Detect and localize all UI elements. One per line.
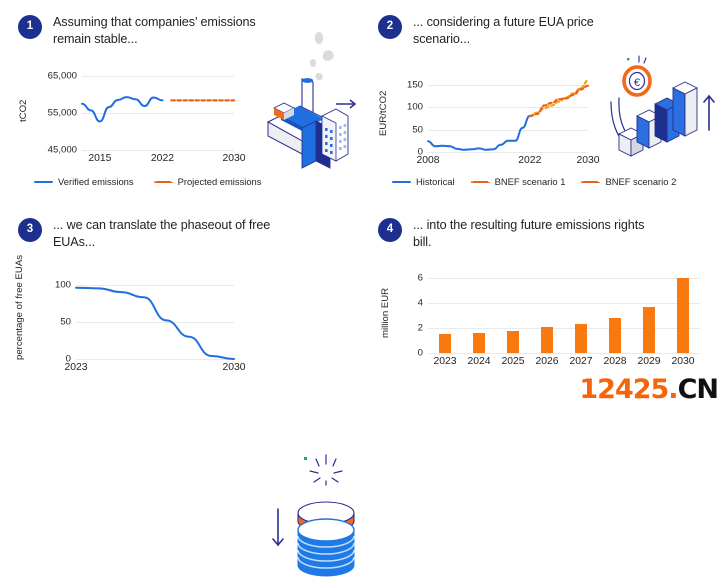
panel-3-heading: 3 ... we can translate the phaseout of f… <box>18 217 350 250</box>
panel-3-plot-area: 05010020232030 <box>76 281 234 359</box>
y-axis-tick: 150 <box>407 79 428 90</box>
y-axis-tick: 100 <box>407 102 428 113</box>
watermark-orange: 12425. <box>579 374 677 405</box>
bar <box>507 331 519 353</box>
panel-4-plot-area: 024620232024202520262027202820292030 <box>428 271 700 353</box>
panel-4-heading: 4 ... into the resulting future emission… <box>378 217 710 250</box>
legend-item-bnef-scenario-1: BNEF scenario 1 <box>471 176 566 187</box>
x-axis-tick: 2030 <box>222 362 245 373</box>
panel-4-chart: million EUR 0246202320242025202620272028… <box>380 261 710 371</box>
bar <box>473 333 485 354</box>
panel-4: 4 ... into the resulting future emission… <box>360 203 720 405</box>
panel-2: 2 ... considering a future EUA price sce… <box>360 0 720 203</box>
coin-stack-decline-icon <box>268 451 368 583</box>
panel-1-y-axis-label: tCO2 <box>18 76 29 146</box>
panel-1-step-badge: 1 <box>18 15 42 39</box>
panel-4-y-axis-label: million EUR <box>380 273 391 353</box>
x-axis-tick: 2030 <box>576 155 599 166</box>
gridline <box>428 278 700 279</box>
legend-label: Historical <box>416 176 455 187</box>
x-axis-tick: 2022 <box>518 155 541 166</box>
y-axis-tick: 0 <box>418 348 428 359</box>
gridline <box>428 328 700 329</box>
series-line <box>82 97 163 121</box>
panel-3-heading-text: ... we can translate the phaseout of fre… <box>53 217 291 250</box>
panel-4-step-badge: 4 <box>378 218 402 242</box>
legend-item-historical: Historical <box>392 176 455 187</box>
watermark-black: CN <box>678 374 718 405</box>
series-line <box>76 288 234 359</box>
y-axis-tick: 65,000 <box>48 71 82 82</box>
legend-label: Projected emissions <box>178 176 262 187</box>
panel-3-chart: percentage of free EUAs 05010020232030 <box>14 251 254 366</box>
legend-swatch-dashed-orange <box>154 181 173 183</box>
legend-label: BNEF scenario 2 <box>605 176 676 187</box>
chart-series-layer <box>82 76 234 150</box>
y-axis-tick: 100 <box>55 279 76 290</box>
panel-1: 1 Assuming that companies’ emissions rem… <box>0 0 360 203</box>
y-axis-tick: 2 <box>418 323 428 334</box>
y-axis-tick: 4 <box>418 298 428 309</box>
gridline <box>76 359 234 360</box>
y-axis-tick: 50 <box>60 316 76 327</box>
x-axis-tick: 2015 <box>88 153 111 164</box>
bar <box>575 324 587 353</box>
series-line <box>428 116 530 150</box>
x-axis-tick: 2024 <box>467 356 490 367</box>
bar <box>643 307 655 353</box>
y-axis-tick: 50 <box>412 124 428 135</box>
gridline <box>428 353 700 354</box>
y-axis-tick: 55,000 <box>48 108 82 119</box>
x-axis-tick: 2030 <box>671 356 694 367</box>
svg-text:€: € <box>634 77 640 89</box>
x-axis-tick: 2023 <box>433 356 456 367</box>
x-axis-tick: 2022 <box>151 153 174 164</box>
panel-3: 3 ... we can translate the phaseout of f… <box>0 203 360 405</box>
bar <box>541 327 553 353</box>
gridline <box>428 303 700 304</box>
panel-1-legend: Verified emissions Projected emissions <box>34 176 261 187</box>
panel-2-chart: EUR/tCO2 050100150200820222030 <box>378 68 603 168</box>
x-axis-tick: 2025 <box>501 356 524 367</box>
factory-icon <box>250 16 360 176</box>
bar <box>439 334 451 353</box>
x-axis-tick: 2029 <box>637 356 660 367</box>
series-line <box>530 81 588 116</box>
panel-3-y-axis-label: percentage of free EUAs <box>14 251 25 363</box>
gridline <box>82 150 234 151</box>
x-axis-tick: 2030 <box>222 153 245 164</box>
y-axis-tick: 45,000 <box>48 145 82 156</box>
panel-2-y-axis-label: EUR/tCO2 <box>378 72 389 154</box>
panel-2-heading-text: ... considering a future EUA price scena… <box>413 14 651 47</box>
legend-swatch-solid-blue <box>392 181 411 183</box>
panel-4-heading-text: ... into the resulting future emissions … <box>413 217 651 250</box>
legend-item-verified-emissions: Verified emissions <box>34 176 134 187</box>
watermark: 12425.CN <box>579 376 718 403</box>
legend-swatch-solid-blue <box>34 181 53 183</box>
x-axis-tick: 2027 <box>569 356 592 367</box>
infographic-grid: 1 Assuming that companies’ emissions rem… <box>0 0 720 405</box>
panel-2-legend: Historical BNEF scenario 1 BNEF scenario… <box>392 176 676 187</box>
legend-item-projected-emissions: Projected emissions <box>154 176 262 187</box>
legend-swatch-dashed-orange <box>471 181 490 183</box>
panel-3-step-badge: 3 <box>18 218 42 242</box>
x-axis-tick: 2023 <box>64 362 87 373</box>
bar <box>677 278 689 353</box>
panel-2-plot-area: 050100150200820222030 <box>428 76 588 152</box>
panel-1-chart: tCO2 45,00055,00065,000201520222030 <box>18 68 238 168</box>
y-axis-tick: 6 <box>418 273 428 284</box>
chart-series-layer <box>428 76 588 152</box>
x-axis-tick: 2026 <box>535 356 558 367</box>
gridline <box>428 152 588 153</box>
panel-2-step-badge: 2 <box>378 15 402 39</box>
euro-coin-growth-bars-icon: € <box>605 50 720 170</box>
legend-label: Verified emissions <box>58 176 134 187</box>
panel-2-heading: 2 ... considering a future EUA price sce… <box>378 14 710 47</box>
bar <box>609 318 621 353</box>
chart-series-layer <box>76 281 234 359</box>
legend-item-bnef-scenario-2: BNEF scenario 2 <box>581 176 676 187</box>
panel-1-plot-area: 45,00055,00065,000201520222030 <box>82 76 234 150</box>
legend-label: BNEF scenario 1 <box>495 176 566 187</box>
x-axis-tick: 2028 <box>603 356 626 367</box>
x-axis-tick: 2008 <box>416 155 439 166</box>
legend-swatch-dashed-orange <box>581 181 600 183</box>
